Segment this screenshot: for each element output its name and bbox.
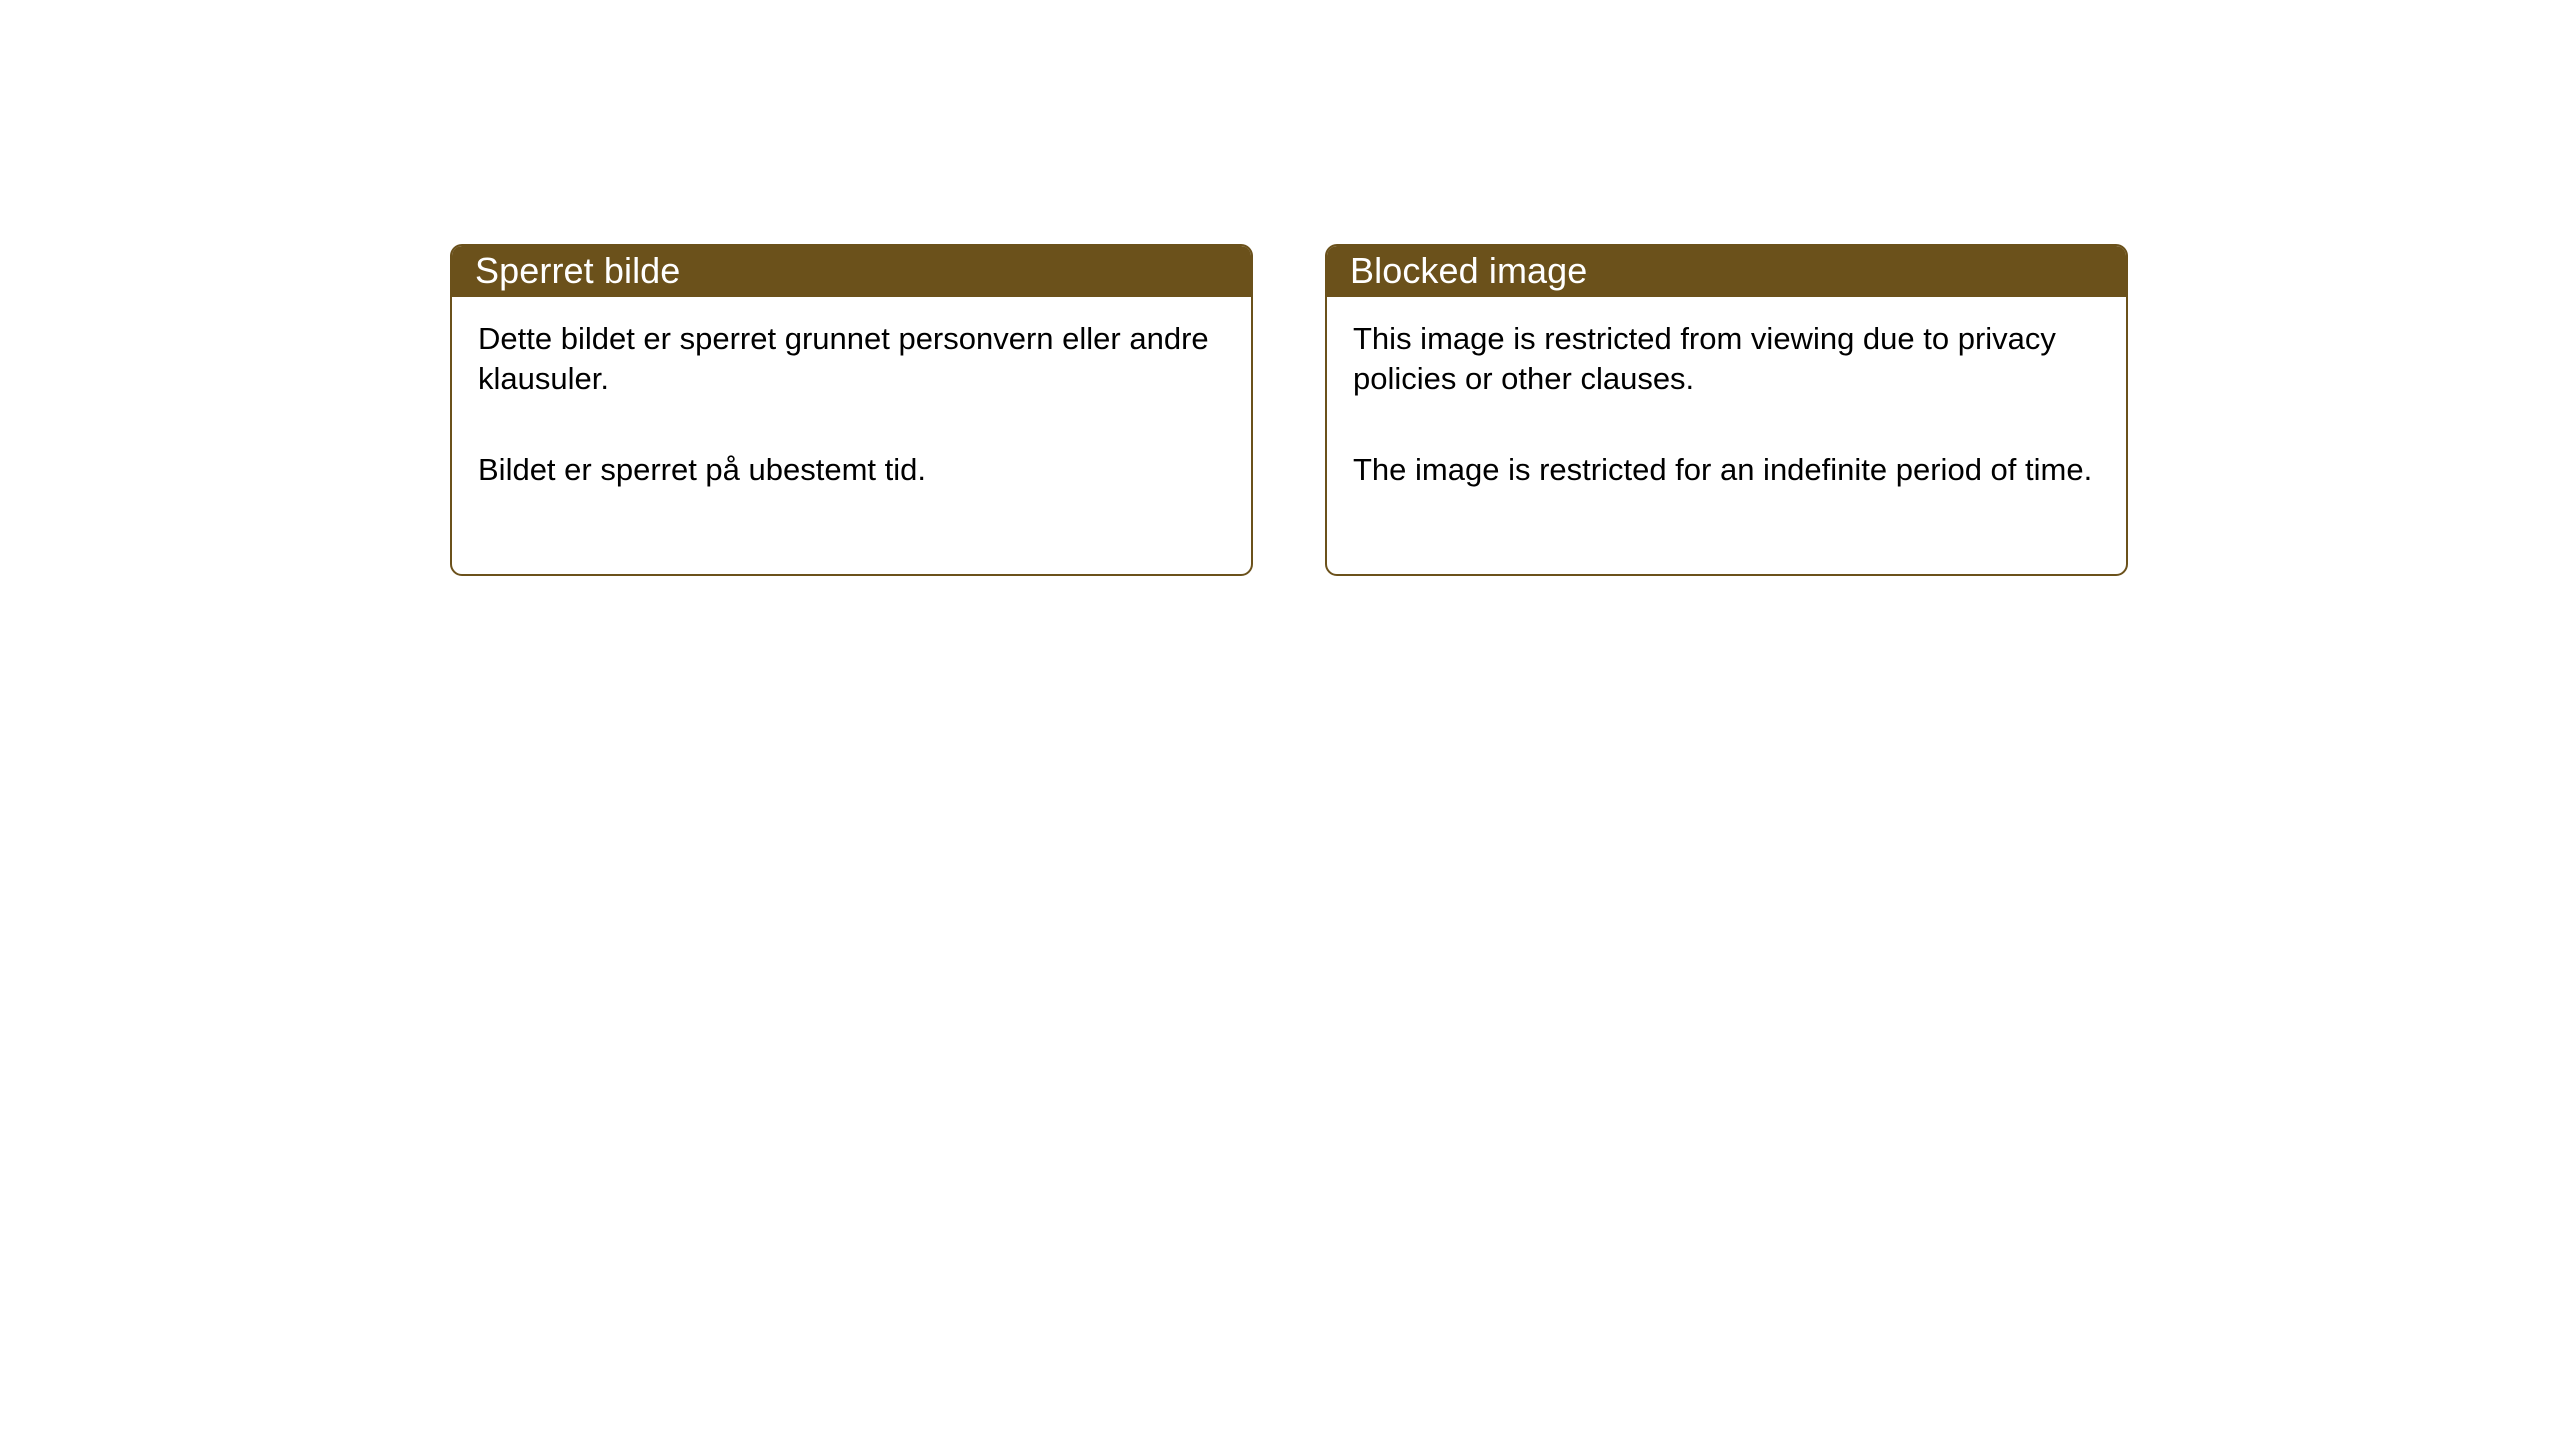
blocked-image-card-norwegian: Sperret bilde Dette bildet er sperret gr… [450, 244, 1253, 576]
blocked-image-notice-area: Sperret bilde Dette bildet er sperret gr… [0, 0, 2560, 1440]
card-header-norwegian: Sperret bilde [450, 244, 1253, 297]
card-paragraph-norwegian-2: Bildet er sperret på ubestemt tid. [478, 450, 1225, 490]
blocked-image-card-english: Blocked image This image is restricted f… [1325, 244, 2128, 576]
card-body-norwegian: Dette bildet er sperret grunnet personve… [452, 297, 1251, 490]
card-title-norwegian: Sperret bilde [475, 253, 680, 289]
card-paragraph-english-2: The image is restricted for an indefinit… [1353, 450, 2100, 490]
card-paragraph-english-1: This image is restricted from viewing du… [1353, 319, 2100, 398]
card-body-english: This image is restricted from viewing du… [1327, 297, 2126, 490]
card-paragraph-norwegian-1: Dette bildet er sperret grunnet personve… [478, 319, 1225, 398]
card-header-english: Blocked image [1325, 244, 2128, 297]
card-title-english: Blocked image [1350, 253, 1587, 289]
